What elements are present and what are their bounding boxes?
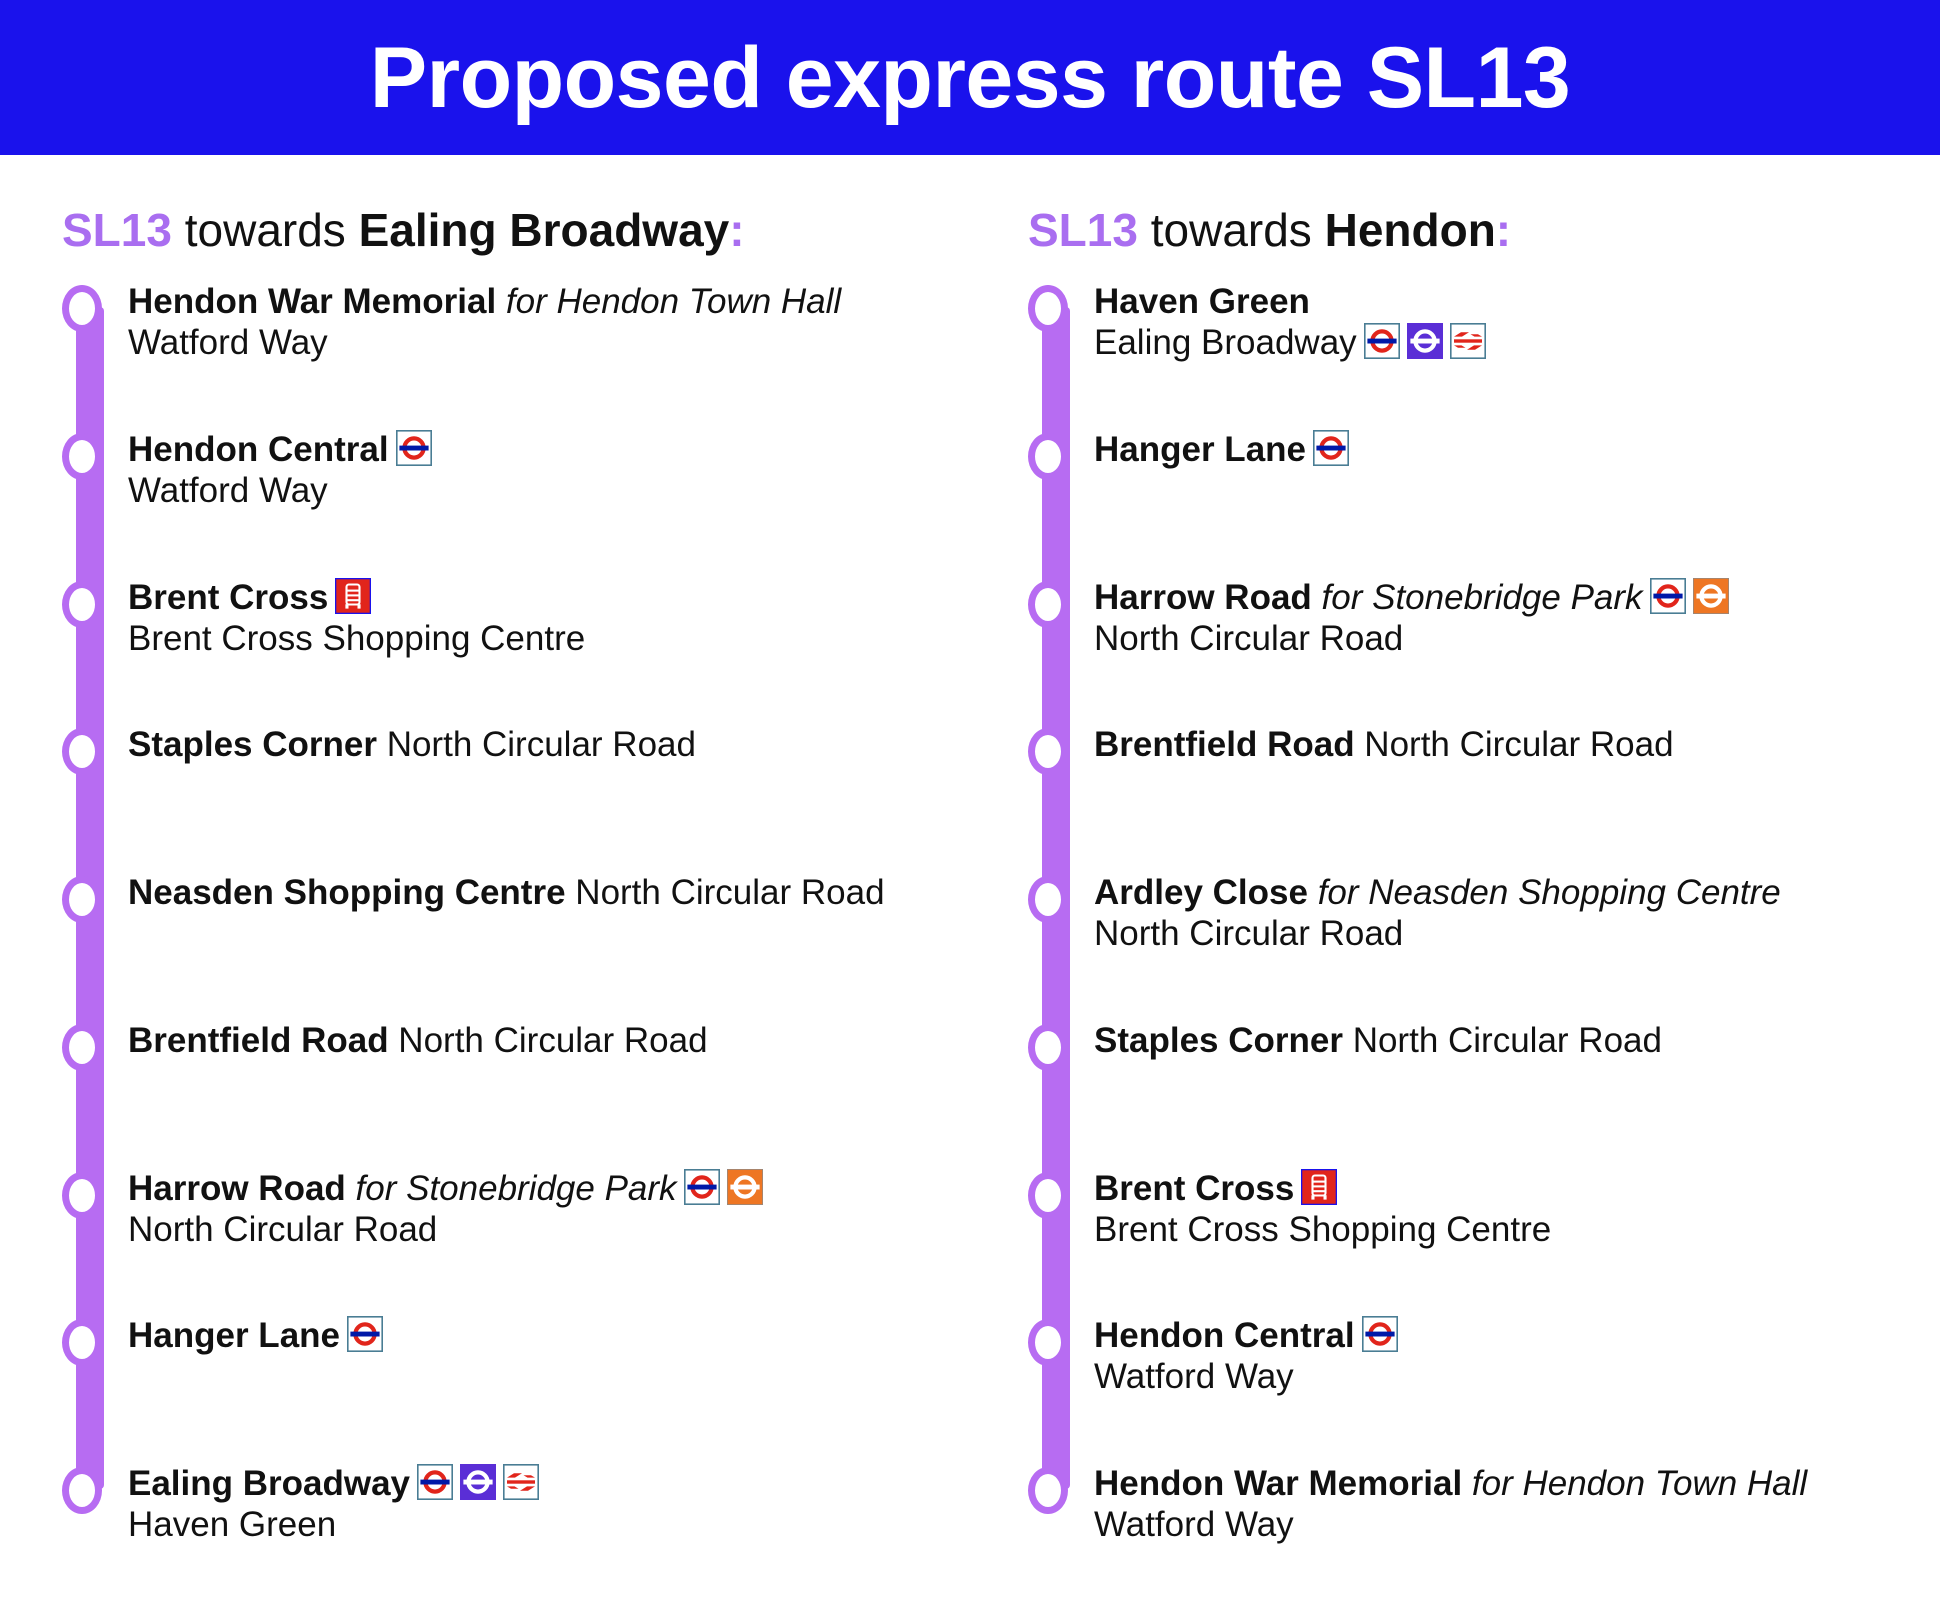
stop-item[interactable]: Hendon CentralWatford Way (1094, 1315, 1940, 1398)
stop-primary-line: Haven Green (1094, 281, 1940, 322)
stop-primary-line: Brent Cross (1094, 1168, 1940, 1209)
stop-secondary-line: North Circular Road (128, 1209, 1010, 1250)
stop-name: Brent Cross (128, 578, 328, 617)
underground-roundel-icon (1313, 430, 1349, 466)
stop-marker-icon (62, 1024, 102, 1071)
underground-roundel-icon (1364, 323, 1400, 359)
stop-primary-line: Ardley Close for Neasden Shopping Centre (1094, 872, 1940, 913)
stop-marker-icon (62, 433, 102, 480)
stop-name: Brentfield Road (128, 1021, 389, 1060)
stop-street-inline: North Circular Road (377, 725, 696, 764)
stop-name: Hendon War Memorial (128, 282, 496, 321)
stop-street-inline: North Circular Road (566, 873, 885, 912)
stop-item[interactable]: Brent CrossBrent Cross Shopping Centre (1094, 1168, 1940, 1251)
stop-street-inline: North Circular Road (1343, 1021, 1662, 1060)
stop-name: Staples Corner (128, 725, 377, 764)
stop-item[interactable]: Hanger Lane (128, 1315, 1010, 1356)
stop-name: Brent Cross (1094, 1169, 1294, 1208)
stop-street: Ealing Broadway (1094, 323, 1357, 362)
route-number-label: SL13 (62, 204, 172, 256)
stop-primary-line: Hendon War Memorial for Hendon Town Hall (1094, 1463, 1940, 1504)
stop-marker-icon (1028, 728, 1068, 775)
stop-street: Watford Way (128, 323, 328, 362)
stop-street: North Circular Road (128, 1210, 437, 1249)
stop-marker-icon (62, 1467, 102, 1514)
underground-roundel-icon (1362, 1316, 1398, 1352)
stop-item[interactable]: Brentfield Road North Circular Road (128, 1020, 1010, 1061)
stop-name: Staples Corner (1094, 1021, 1343, 1060)
stop-secondary-line: Brent Cross Shopping Centre (128, 618, 1010, 659)
stop-marker-icon (1028, 433, 1068, 480)
national-rail-icon (1450, 323, 1486, 359)
stop-primary-line: Harrow Road for Stonebridge Park (128, 1168, 1010, 1209)
column-heading: SL13 towards Hendon: (1028, 207, 1940, 253)
stop-marker-icon (1028, 285, 1068, 332)
stop-primary-line: Neasden Shopping Centre North Circular R… (128, 872, 1010, 913)
stop-primary-line: Ealing Broadway (128, 1463, 1010, 1504)
stop-street: Brent Cross Shopping Centre (1094, 1210, 1551, 1249)
heading-colon: : (729, 204, 744, 256)
stop-marker-icon (62, 285, 102, 332)
elizabeth-line-roundel-icon (1407, 323, 1443, 359)
stop-for-qualifier: for Neasden Shopping Centre (1308, 873, 1781, 912)
stop-name: Hendon War Memorial (1094, 1464, 1462, 1503)
stop-street: Haven Green (128, 1505, 336, 1544)
underground-roundel-icon (417, 1464, 453, 1500)
stop-list: Hendon War Memorial for Hendon Town Hall… (62, 281, 1010, 1611)
stop-item[interactable]: Hendon War Memorial for Hendon Town Hall… (128, 281, 1010, 364)
stop-primary-line: Harrow Road for Stonebridge Park (1094, 577, 1940, 618)
stop-marker-icon (1028, 1024, 1068, 1071)
towards-label: towards (172, 204, 359, 256)
stop-marker-icon (1028, 1172, 1068, 1219)
stop-primary-line: Brent Cross (128, 577, 1010, 618)
stop-name: Ardley Close (1094, 873, 1308, 912)
stop-street: North Circular Road (1094, 619, 1403, 658)
stop-secondary-line: North Circular Road (1094, 618, 1940, 659)
stop-primary-line: Hendon Central (128, 429, 1010, 470)
stop-street: Brent Cross Shopping Centre (128, 619, 585, 658)
overground-roundel-icon (727, 1169, 763, 1205)
stop-item[interactable]: Staples Corner North Circular Road (128, 724, 1010, 765)
stop-name: Hanger Lane (1094, 430, 1306, 469)
stop-marker-icon (62, 728, 102, 775)
stop-primary-line: Hendon War Memorial for Hendon Town Hall (128, 281, 1010, 322)
direction-column-hendon: SL13 towards Hendon: Haven GreenEaling B… (1010, 155, 1940, 1619)
stop-name: Hanger Lane (128, 1316, 340, 1355)
destination-label: Ealing Broadway (359, 204, 730, 256)
stop-item[interactable]: Hanger Lane (1094, 429, 1940, 470)
stop-for-qualifier: for Stonebridge Park (1312, 578, 1643, 617)
stop-marker-icon (62, 1172, 102, 1219)
stop-marker-icon (1028, 581, 1068, 628)
stop-name: Harrow Road (128, 1169, 346, 1208)
stop-marker-icon (1028, 1467, 1068, 1514)
stop-item[interactable]: Brent CrossBrent Cross Shopping Centre (128, 577, 1010, 660)
stop-item[interactable]: Neasden Shopping Centre North Circular R… (128, 872, 1010, 913)
stop-name: Neasden Shopping Centre (128, 873, 566, 912)
stop-primary-line: Staples Corner North Circular Road (1094, 1020, 1940, 1061)
stop-item[interactable]: Ealing BroadwayHaven Green (128, 1463, 1010, 1546)
stop-list: Haven GreenEaling BroadwayHanger LaneHar… (1028, 281, 1940, 1611)
underground-roundel-icon (684, 1169, 720, 1205)
stop-secondary-line: North Circular Road (1094, 913, 1940, 954)
stop-secondary-line: Watford Way (1094, 1356, 1940, 1397)
stop-secondary-line: Watford Way (128, 470, 1010, 511)
route-number-label: SL13 (1028, 204, 1138, 256)
stop-marker-icon (1028, 1319, 1068, 1366)
stop-street-inline: North Circular Road (389, 1021, 708, 1060)
stop-primary-line: Hendon Central (1094, 1315, 1940, 1356)
underground-roundel-icon (396, 430, 432, 466)
destination-label: Hendon (1325, 204, 1496, 256)
column-heading: SL13 towards Ealing Broadway: (62, 207, 1010, 253)
stop-name: Hendon Central (128, 430, 389, 469)
stop-marker-icon (1028, 876, 1068, 923)
stop-item[interactable]: Hendon War Memorial for Hendon Town Hall… (1094, 1463, 1940, 1546)
stop-secondary-line: Ealing Broadway (1094, 322, 1940, 363)
title-banner: Proposed express route SL13 (0, 0, 1940, 155)
london-bus-icon (335, 578, 371, 614)
national-rail-icon (503, 1464, 539, 1500)
elizabeth-line-roundel-icon (460, 1464, 496, 1500)
towards-label: towards (1138, 204, 1325, 256)
stop-marker-icon (62, 1319, 102, 1366)
stop-for-qualifier: for Hendon Town Hall (496, 282, 841, 321)
stop-street: Watford Way (128, 471, 328, 510)
london-bus-icon (1301, 1169, 1337, 1205)
heading-colon: : (1496, 204, 1511, 256)
stop-primary-line: Staples Corner North Circular Road (128, 724, 1010, 765)
stop-for-qualifier: for Stonebridge Park (346, 1169, 677, 1208)
stop-item[interactable]: Hendon CentralWatford Way (128, 429, 1010, 512)
stop-item[interactable]: Staples Corner North Circular Road (1094, 1020, 1940, 1061)
stop-item[interactable]: Harrow Road for Stonebridge ParkNorth Ci… (128, 1168, 1010, 1251)
stop-for-qualifier: for Hendon Town Hall (1462, 1464, 1807, 1503)
overground-roundel-icon (1693, 578, 1729, 614)
stop-item[interactable]: Harrow Road for Stonebridge ParkNorth Ci… (1094, 577, 1940, 660)
stop-primary-line: Brentfield Road North Circular Road (1094, 724, 1940, 765)
stop-primary-line: Hanger Lane (128, 1315, 1010, 1356)
stop-secondary-line: Watford Way (128, 322, 1010, 363)
stop-street: North Circular Road (1094, 914, 1403, 953)
stop-item[interactable]: Brentfield Road North Circular Road (1094, 724, 1940, 765)
route-columns: SL13 towards Ealing Broadway: Hendon War… (0, 155, 1940, 1619)
stop-street: Watford Way (1094, 1357, 1294, 1396)
stop-primary-line: Hanger Lane (1094, 429, 1940, 470)
stop-secondary-line: Brent Cross Shopping Centre (1094, 1209, 1940, 1250)
page-title: Proposed express route SL13 (370, 35, 1571, 121)
stop-street-inline: North Circular Road (1355, 725, 1674, 764)
stop-marker-icon (62, 876, 102, 923)
direction-column-ealing-broadway: SL13 towards Ealing Broadway: Hendon War… (0, 155, 1010, 1619)
stop-item[interactable]: Ardley Close for Neasden Shopping Centre… (1094, 872, 1940, 955)
stop-secondary-line: Watford Way (1094, 1504, 1940, 1545)
stop-name: Hendon Central (1094, 1316, 1355, 1355)
stop-name: Haven Green (1094, 282, 1310, 321)
stop-name: Ealing Broadway (128, 1464, 410, 1503)
stop-item[interactable]: Haven GreenEaling Broadway (1094, 281, 1940, 364)
stop-marker-icon (62, 581, 102, 628)
underground-roundel-icon (1650, 578, 1686, 614)
stop-primary-line: Brentfield Road North Circular Road (128, 1020, 1010, 1061)
stop-street: Watford Way (1094, 1505, 1294, 1544)
underground-roundel-icon (347, 1316, 383, 1352)
stop-secondary-line: Haven Green (128, 1504, 1010, 1545)
stop-name: Brentfield Road (1094, 725, 1355, 764)
stop-name: Harrow Road (1094, 578, 1312, 617)
